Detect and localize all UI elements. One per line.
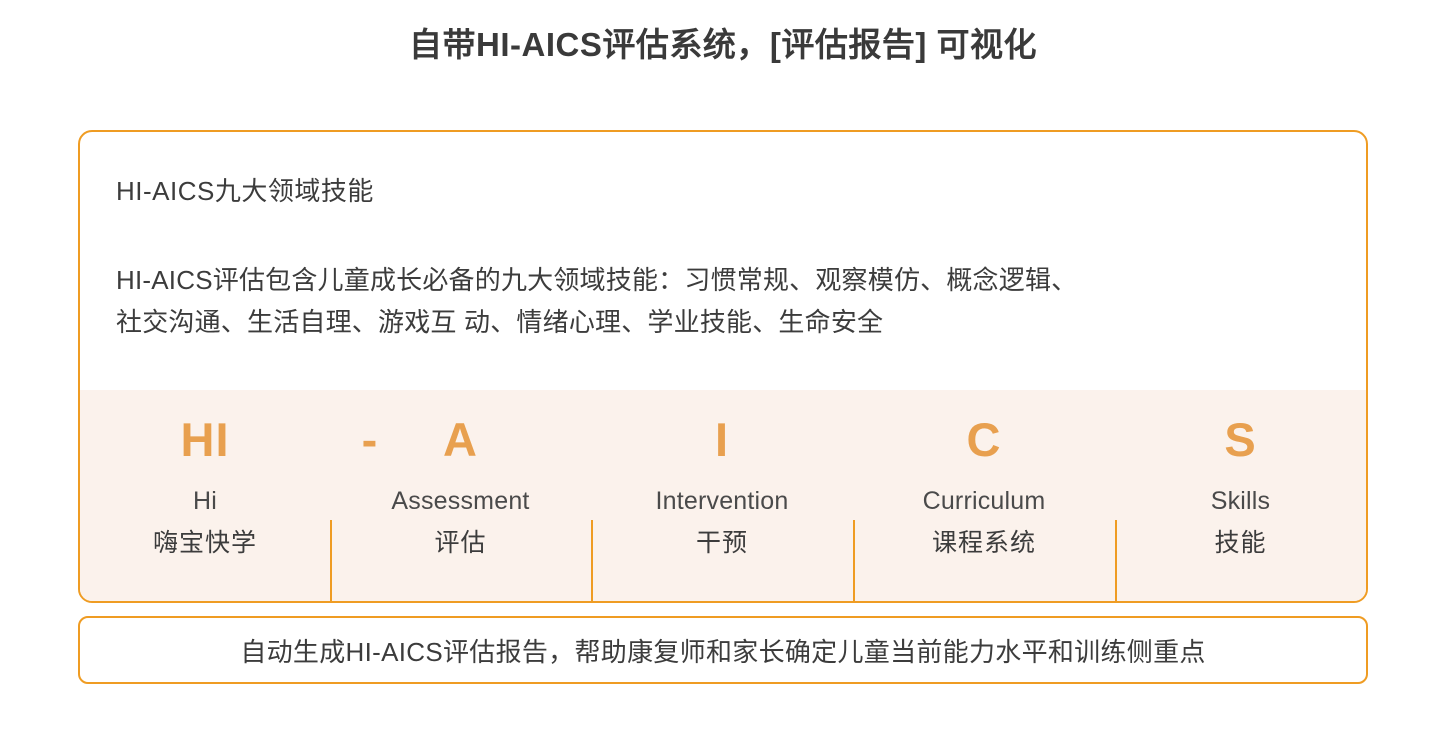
acronym-en-intervention: Intervention [655, 486, 788, 516]
acronym-column-hi: HI Hi 嗨宝快学 [80, 390, 330, 601]
acronym-column-intervention: I Intervention 干预 [591, 390, 853, 601]
acronym-cn-assessment: 评估 [434, 528, 486, 558]
acronym-letter-c: C [967, 416, 1002, 466]
acronym-cn-skills: 技能 [1214, 528, 1266, 558]
acronym-cn-hi: 嗨宝快学 [153, 528, 257, 558]
page-title: 自带HI-AICS评估系统，[评估报告] 可视化 [0, 18, 1446, 66]
acronym-separator-dash: - [330, 416, 410, 466]
acronym-letter-i: I [715, 416, 729, 466]
hi-aics-card: HI-AICS九大领域技能 HI-AICS评估包含儿童成长必备的九大领域技能：习… [78, 130, 1368, 603]
slide-root: 自带HI-AICS评估系统，[评估报告] 可视化 HI-AICS九大领域技能 H… [0, 0, 1446, 734]
acronym-cn-intervention: 干预 [696, 528, 748, 558]
acronym-column-curriculum: C Curriculum 课程系统 [853, 390, 1115, 601]
footer-note-text: 自动生成HI-AICS评估报告，帮助康复师和家长确定儿童当前能力水平和训练侧重点 [240, 632, 1205, 669]
acronym-letter-a: A [443, 416, 478, 466]
acronym-band: HI Hi 嗨宝快学 A Assessment 评估 I Interventio… [80, 390, 1366, 601]
acronym-en-curriculum: Curriculum [923, 486, 1046, 516]
acronym-letter-hi: HI [181, 416, 230, 466]
card-heading: HI-AICS九大领域技能 [116, 176, 1330, 207]
acronym-en-hi: Hi [193, 486, 217, 516]
acronym-cn-curriculum: 课程系统 [932, 528, 1036, 558]
footer-note-card: 自动生成HI-AICS评估报告，帮助康复师和家长确定儿童当前能力水平和训练侧重点 [78, 616, 1368, 684]
acronym-letter-s: S [1224, 416, 1256, 466]
acronym-en-skills: Skills [1211, 486, 1271, 516]
card-paragraph-line-1: HI-AICS评估包含儿童成长必备的九大领域技能：习惯常规、观察模仿、概念逻辑、 [116, 259, 1330, 301]
card-paragraph: HI-AICS评估包含儿童成长必备的九大领域技能：习惯常规、观察模仿、概念逻辑、… [116, 259, 1330, 343]
acronym-column-skills: S Skills 技能 [1115, 390, 1366, 601]
acronym-en-assessment: Assessment [391, 486, 529, 516]
card-paragraph-line-2: 社交沟通、生活自理、游戏互 动、情绪心理、学业技能、生命安全 [116, 301, 1330, 343]
card-text-section: HI-AICS九大领域技能 HI-AICS评估包含儿童成长必备的九大领域技能：习… [80, 132, 1366, 390]
